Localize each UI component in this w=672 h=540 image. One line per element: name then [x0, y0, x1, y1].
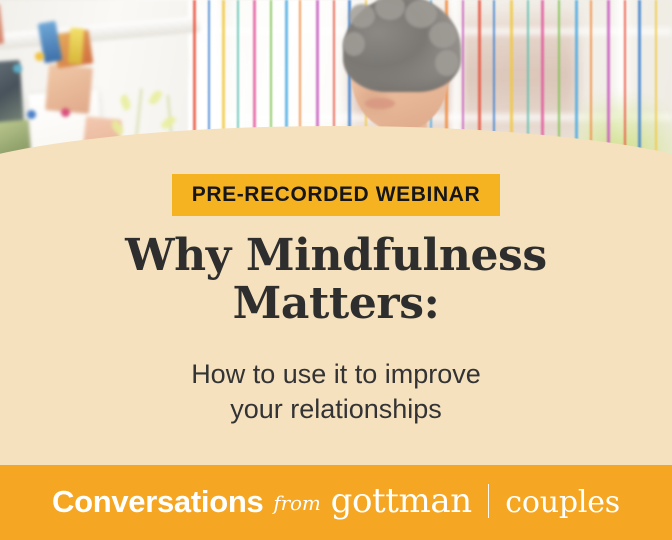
brand-gottman-word: gottman	[331, 481, 472, 521]
page-title: Why Mindfulness Matters:	[0, 232, 672, 327]
page-subtitle: How to use it to improve your relationsh…	[0, 357, 672, 427]
page-subtitle-line-2: your relationships	[0, 392, 672, 427]
hair-curl	[405, 0, 437, 28]
hair-curl	[435, 50, 459, 76]
brand-footer-bar: Conversations from gottman couples	[0, 465, 672, 540]
plant-leaf	[160, 114, 177, 131]
page-title-line-1: Why Mindfulness	[0, 232, 672, 280]
brand-lockup: Conversations from gottman couples	[52, 481, 620, 521]
brand-conversations-word: Conversations	[52, 484, 263, 520]
magnet	[13, 64, 22, 73]
plant-leaf	[148, 89, 162, 106]
webinar-promo-poster: PRE-RECORDED WEBINAR Why Mindfulness Mat…	[0, 0, 672, 540]
content-area: PRE-RECORDED WEBINAR Why Mindfulness Mat…	[0, 150, 672, 465]
lips	[365, 98, 395, 109]
hair-curl	[429, 22, 457, 48]
page-title-line-2: Matters:	[0, 280, 672, 328]
webinar-type-badge: PRE-RECORDED WEBINAR	[172, 174, 500, 216]
brand-couples-word: couples	[505, 485, 620, 520]
board-photo	[68, 28, 84, 65]
brand-from-word: from	[273, 491, 320, 515]
board-photo	[45, 64, 93, 114]
plant-leaf	[118, 94, 133, 111]
page-subtitle-line-1: How to use it to improve	[0, 357, 672, 392]
hair-curl	[343, 32, 365, 56]
magnet	[35, 52, 44, 61]
plant-leaf	[109, 119, 126, 136]
webinar-type-badge-label: PRE-RECORDED WEBINAR	[192, 183, 481, 207]
magnet	[27, 110, 36, 119]
hair-curl	[349, 4, 375, 28]
brand-divider	[488, 484, 490, 518]
